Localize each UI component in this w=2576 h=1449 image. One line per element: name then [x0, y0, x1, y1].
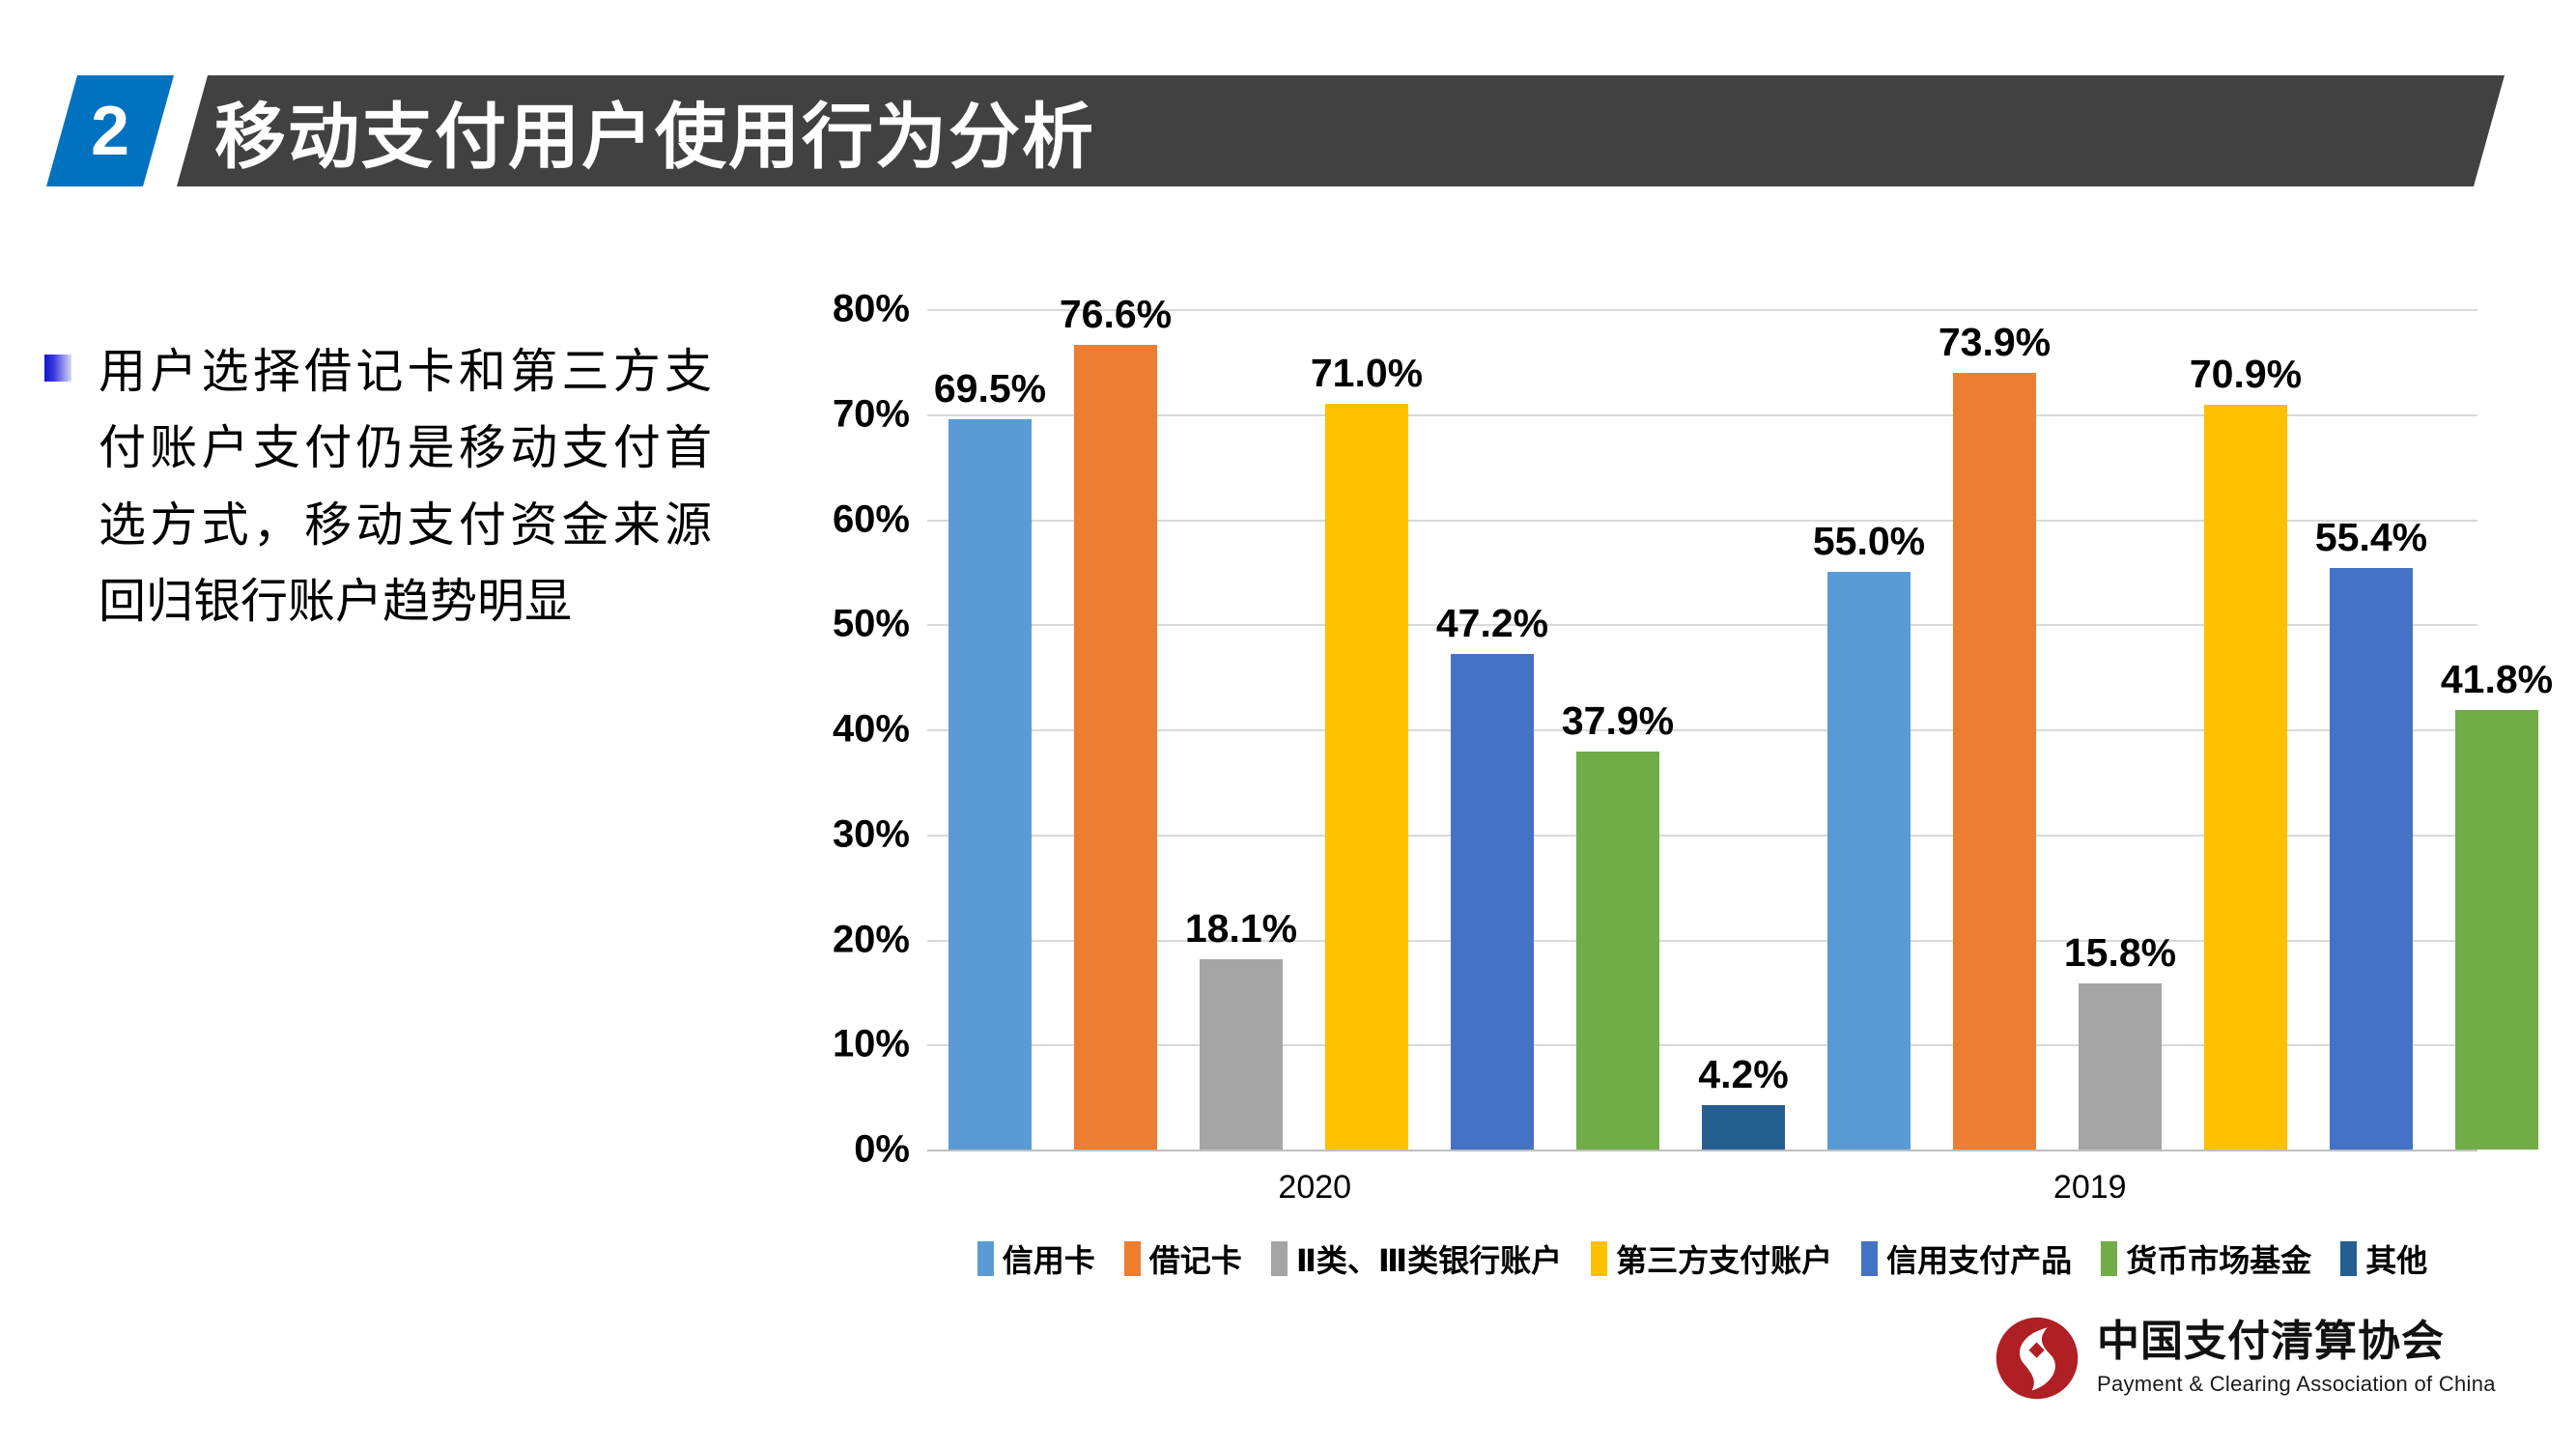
- bar-chart: 80%70%60%50%40%30%20%10%0% 69.5%76.6%18.…: [773, 270, 2511, 1304]
- legend-color-swatch: [1271, 1241, 1288, 1276]
- gridline: 0%: [927, 1150, 2477, 1151]
- y-axis-tick-label: 70%: [833, 392, 910, 436]
- bar-slot: 18.1%: [1200, 309, 1283, 1150]
- bar-value-label: 55.0%: [1813, 519, 1925, 564]
- bar[interactable]: 73.9%: [1953, 373, 2036, 1150]
- bar-slot: 4.2%: [1702, 309, 1785, 1150]
- bar-value-label: 37.9%: [1562, 698, 1674, 744]
- y-axis-tick-label: 10%: [833, 1023, 910, 1066]
- bar[interactable]: 18.1%: [1200, 959, 1283, 1150]
- y-axis-tick-label: 0%: [854, 1128, 910, 1172]
- legend-color-swatch: [977, 1241, 994, 1276]
- bar[interactable]: 41.8%: [2455, 710, 2538, 1150]
- bar-slot: 37.9%: [1576, 309, 1659, 1150]
- slide-header: 2 移动支付用户使用行为分析: [0, 0, 2576, 222]
- bar[interactable]: 4.2%: [1702, 1105, 1785, 1150]
- legend-item[interactable]: 其他: [2340, 1236, 2427, 1281]
- summary-text-block: 用户选择借记卡和第三方支付账户支付仍是移动支付首选方式，移动支付资金来源回归银行…: [44, 333, 721, 640]
- bar-value-label: 47.2%: [1436, 601, 1548, 646]
- bar-slot: 47.2%: [1451, 309, 1534, 1150]
- bar-slot: 76.6%: [1074, 309, 1157, 1150]
- chart-plot-area: 80%70%60%50%40%30%20%10%0% 69.5%76.6%18.…: [927, 309, 2477, 1150]
- legend-item[interactable]: 信用支付产品: [1861, 1236, 2072, 1281]
- bar[interactable]: 71.0%: [1325, 404, 1408, 1150]
- x-axis-category-label: 2019: [1703, 1169, 2478, 1207]
- y-axis-tick-label: 30%: [833, 812, 910, 856]
- legend-item[interactable]: 借记卡: [1124, 1236, 1242, 1281]
- legend-label: 其他: [2365, 1236, 2427, 1281]
- bar-group: 55.0%73.9%15.8%70.9%55.4%41.8%4.5%: [1806, 309, 2576, 1150]
- chart-legend: 信用卡借记卡Ⅱ类、Ⅲ类银行账户第三方支付账户信用支付产品货币市场基金其他: [927, 1236, 2477, 1281]
- bar-slot: 55.0%: [1827, 309, 1911, 1150]
- page-title: 移动支付用户使用行为分析: [214, 75, 1095, 186]
- pcac-circle-logo-icon: [1995, 1316, 2080, 1401]
- bar[interactable]: 15.8%: [2079, 983, 2162, 1150]
- bar-slot: 55.4%: [2330, 309, 2413, 1150]
- logo-title-cn: 中国支付清算协会: [2097, 1320, 2496, 1364]
- section-number-badge: 2: [46, 75, 174, 186]
- bar-slot: 15.8%: [2079, 309, 2162, 1150]
- legend-color-swatch: [1861, 1241, 1878, 1276]
- bar-slot: 73.9%: [1953, 309, 2036, 1150]
- bar-slot: 69.5%: [948, 309, 1032, 1150]
- legend-label: 信用支付产品: [1886, 1236, 2072, 1281]
- x-axis-category-label: 2020: [927, 1169, 1703, 1207]
- bar-slot: 70.9%: [2204, 309, 2287, 1150]
- legend-color-swatch: [2101, 1241, 2117, 1276]
- bar-group: 69.5%76.6%18.1%71.0%47.2%37.9%4.2%: [927, 309, 1806, 1150]
- y-axis-tick-label: 40%: [833, 708, 910, 752]
- bar-value-label: 73.9%: [1939, 320, 2051, 365]
- legend-label: 借记卡: [1149, 1236, 1242, 1281]
- organization-logo: 中国支付清算协会 Payment & Clearing Association …: [1995, 1316, 2496, 1401]
- legend-color-swatch: [2340, 1241, 2357, 1276]
- square-bullet-icon: [44, 355, 71, 382]
- legend-label: 第三方支付账户: [1616, 1236, 1832, 1281]
- bar[interactable]: 76.6%: [1074, 345, 1157, 1150]
- bar-value-label: 71.0%: [1311, 351, 1423, 396]
- y-axis-tick-label: 20%: [833, 918, 910, 961]
- bar-groups: 69.5%76.6%18.1%71.0%47.2%37.9%4.2%55.0%7…: [927, 309, 2477, 1150]
- bar-value-label: 70.9%: [2190, 352, 2302, 397]
- y-axis-tick-label: 60%: [833, 497, 910, 541]
- bar[interactable]: 55.0%: [1827, 572, 1911, 1150]
- bar-slot: 71.0%: [1325, 309, 1408, 1150]
- bar-value-label: 15.8%: [2064, 930, 2176, 976]
- y-axis-tick-label: 80%: [833, 288, 910, 331]
- section-number-text: 2: [91, 97, 129, 166]
- bar[interactable]: 70.9%: [2204, 405, 2287, 1150]
- bar[interactable]: 47.2%: [1451, 654, 1534, 1150]
- bar[interactable]: 55.4%: [2330, 568, 2413, 1150]
- bar-value-label: 41.8%: [2441, 657, 2553, 702]
- legend-item[interactable]: Ⅱ类、Ⅲ类银行账户: [1271, 1236, 1562, 1281]
- bar-value-label: 4.2%: [1698, 1052, 1788, 1097]
- legend-item[interactable]: 第三方支付账户: [1591, 1236, 1832, 1281]
- legend-color-swatch: [1591, 1241, 1607, 1276]
- y-axis-tick-label: 50%: [833, 603, 910, 646]
- bar-slot: 41.8%: [2455, 309, 2538, 1150]
- logo-title-en: Payment & Clearing Association of China: [2097, 1372, 2496, 1397]
- bar[interactable]: 37.9%: [1576, 752, 1659, 1150]
- bar-value-label: 76.6%: [1060, 292, 1172, 337]
- legend-label: 货币市场基金: [2126, 1236, 2311, 1281]
- legend-color-swatch: [1124, 1241, 1141, 1276]
- legend-item[interactable]: 信用卡: [977, 1236, 1095, 1281]
- bar-value-label: 55.4%: [2315, 515, 2427, 560]
- bar-value-label: 18.1%: [1185, 906, 1297, 952]
- legend-item[interactable]: 货币市场基金: [2101, 1236, 2311, 1281]
- bar-value-label: 69.5%: [934, 366, 1046, 412]
- summary-paragraph: 用户选择借记卡和第三方支付账户支付仍是移动支付首选方式，移动支付资金来源回归银行…: [99, 333, 712, 640]
- legend-label: Ⅱ类、Ⅲ类银行账户: [1296, 1236, 1562, 1281]
- legend-label: 信用卡: [1003, 1236, 1095, 1281]
- x-axis-labels: 20202019: [927, 1169, 2477, 1207]
- logo-text: 中国支付清算协会 Payment & Clearing Association …: [2097, 1320, 2496, 1396]
- bar[interactable]: 69.5%: [948, 419, 1032, 1150]
